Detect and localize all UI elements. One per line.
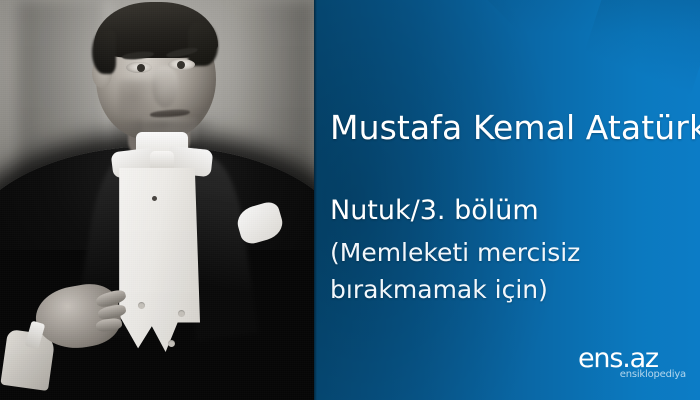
description-line-2: bırakmamak için) (330, 275, 548, 304)
text-block: Mustafa Kemal Atatürk Nutuk/3. bölüm (Me… (330, 0, 696, 400)
page-title: Mustafa Kemal Atatürk (330, 108, 700, 147)
description-line-1: (Memleketi mercisiz (330, 238, 580, 267)
title-panel: Mustafa Kemal Atatürk Nutuk/3. bölüm (Me… (314, 0, 700, 400)
portrait-photo (0, 0, 314, 400)
photo-grain-overlay (0, 0, 314, 400)
site-logo[interactable]: ens.az ensiklopediya (578, 345, 686, 385)
logo-wordmark: ens.az (578, 345, 658, 372)
page-subtitle: Nutuk/3. bölüm (330, 195, 539, 226)
panel-left-edge-shadow (314, 0, 317, 400)
logo-tagline: ensiklopediya (620, 369, 686, 380)
article-banner-card: Mustafa Kemal Atatürk Nutuk/3. bölüm (Me… (0, 0, 700, 400)
